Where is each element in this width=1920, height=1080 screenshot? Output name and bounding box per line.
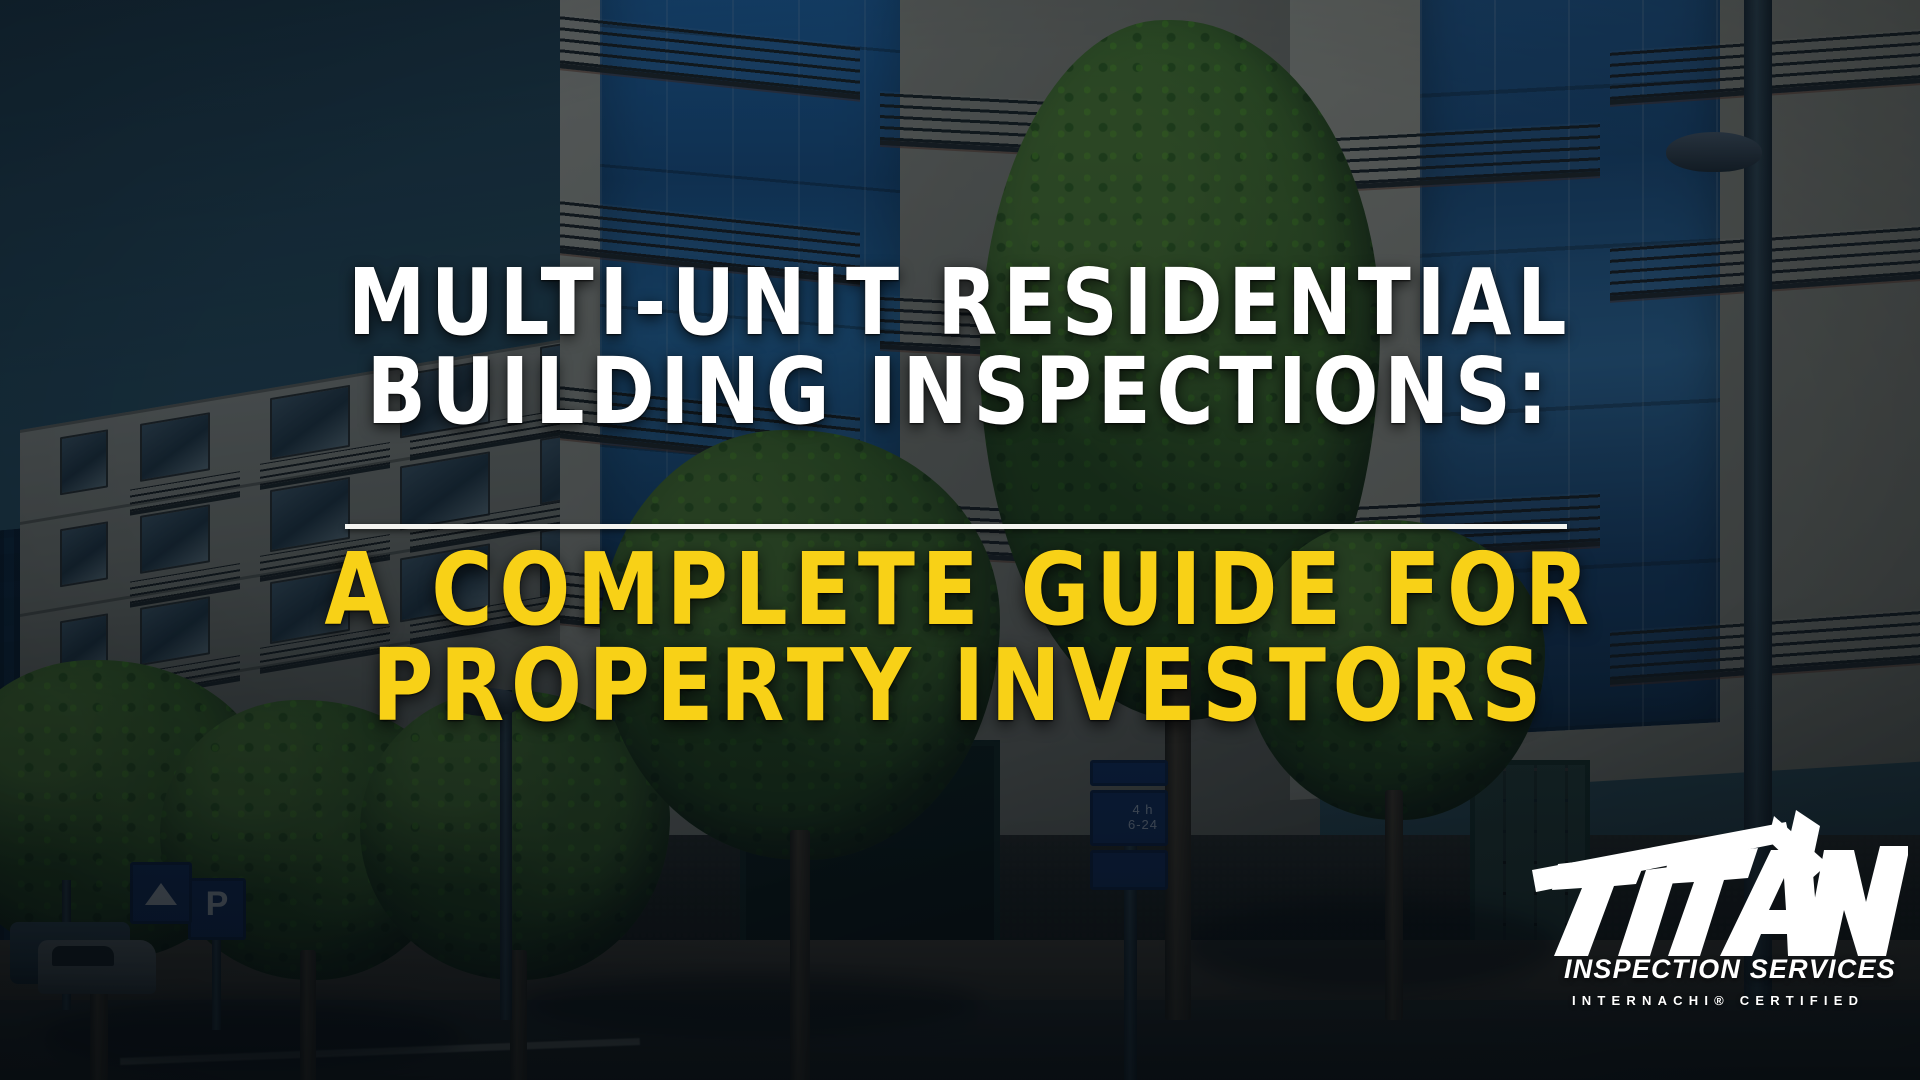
subheadline-line-1: A COMPLETE GUIDE FOR — [67, 542, 1853, 638]
text-overlay: MULTI-UNIT RESIDENTIAL BUILDING INSPECTI… — [0, 0, 1920, 1080]
titan-logo: INSPECTION SERVICES INTERNACHI® CERTIFIE… — [1528, 806, 1908, 1036]
title-divider-rule — [345, 524, 1567, 529]
subheadline-block: A COMPLETE GUIDE FOR PROPERTY INVESTORS — [0, 542, 1920, 734]
hero-banner: 4 h 6-24 P MULTI-UNIT RESIDENTIAL BUILDI… — [0, 0, 1920, 1080]
logo-tagline: INSPECTION SERVICES — [1564, 954, 1894, 985]
headline-line-2: BUILDING INSPECTIONS: — [58, 347, 1863, 436]
headline-line-1: MULTI-UNIT RESIDENTIAL — [58, 258, 1863, 347]
titan-wordmark-icon — [1528, 806, 1908, 956]
headline-block: MULTI-UNIT RESIDENTIAL BUILDING INSPECTI… — [0, 258, 1920, 436]
subheadline-line-2: PROPERTY INVESTORS — [67, 638, 1853, 734]
logo-certification: INTERNACHI® CERTIFIED — [1572, 993, 1902, 1008]
